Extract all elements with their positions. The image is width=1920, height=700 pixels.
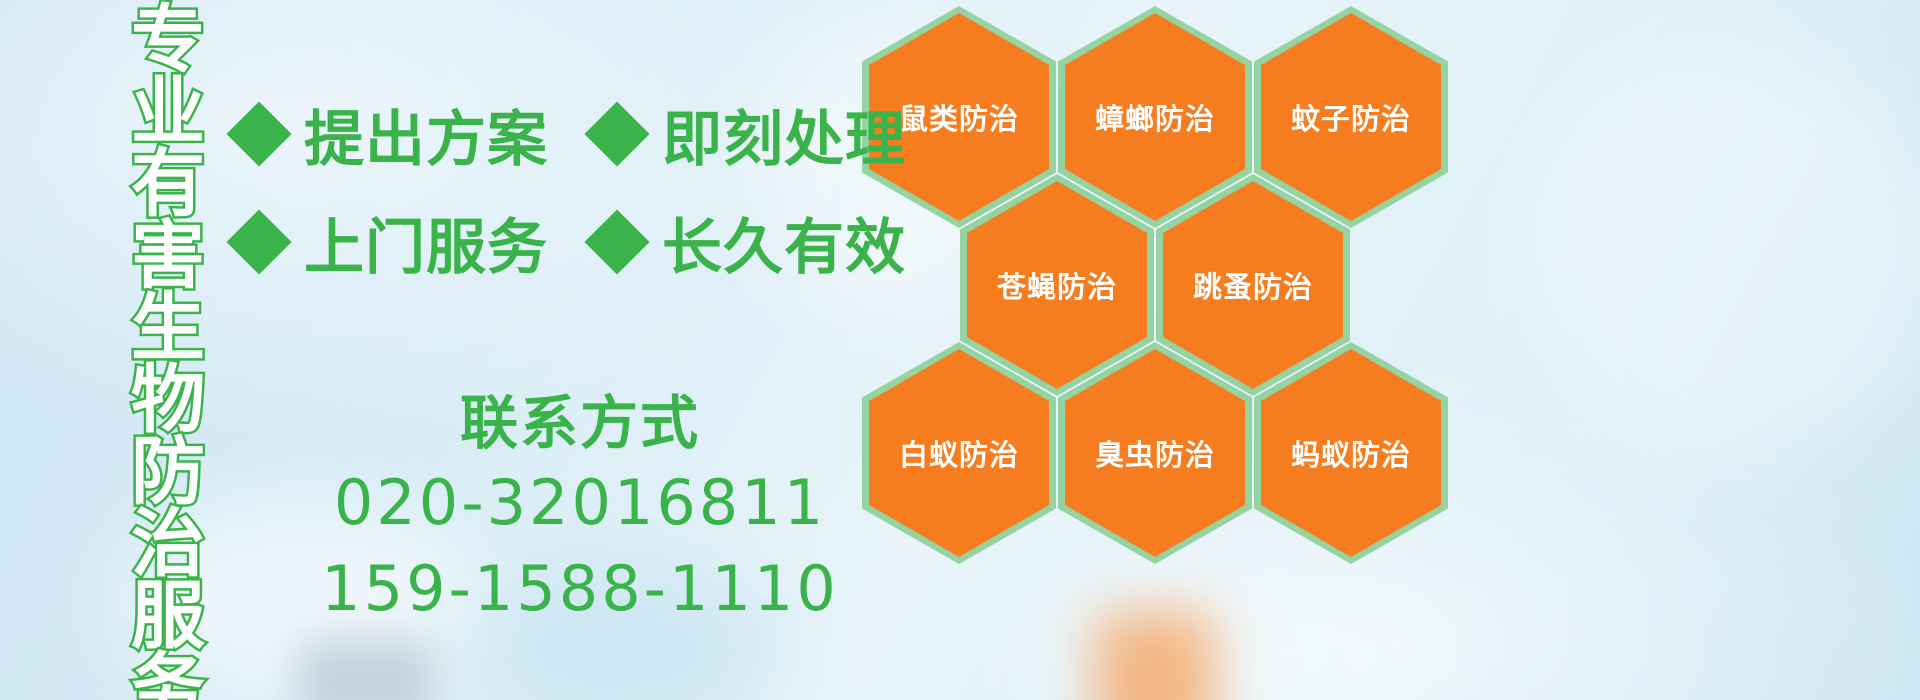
phone-number-landline[interactable]: 020-32016811: [300, 460, 860, 546]
background-accent-grey: [300, 640, 430, 700]
vertical-headline-char: 害: [131, 220, 205, 292]
feature-list: 提出方案 即刻处理 上门服务 长久有效: [236, 80, 906, 296]
feature-label: 上门服务: [304, 199, 548, 286]
contact-block: 联系方式 020-32016811 159-1588-1110: [300, 386, 860, 632]
hex-inner: 蚂蚁防治: [1261, 349, 1441, 557]
hex-inner: 苍蝇防治: [967, 181, 1147, 389]
service-label: 跳蚤防治: [1193, 264, 1313, 306]
background-blob: [1520, 40, 1920, 460]
vertical-headline-char: 业: [131, 76, 205, 148]
feature-label: 提出方案: [304, 91, 548, 178]
hex-inner: 跳蚤防治: [1163, 181, 1343, 389]
promo-banner: 专 业 有 害 生 物 防 治 服 务 提出方案 即刻处理 上门服务 长久有效: [0, 0, 1920, 700]
feature-label: 长久有效: [662, 199, 906, 286]
vertical-headline-char: 有: [131, 148, 205, 220]
hex-inner: 蟑螂防治: [1065, 13, 1245, 221]
service-label: 蚂蚁防治: [1291, 432, 1411, 474]
phone-number-mobile[interactable]: 159-1588-1110: [300, 546, 860, 632]
hex-inner: 蚊子防治: [1261, 13, 1441, 221]
service-label: 白蚁防治: [899, 432, 1019, 474]
vertical-headline-char: 治: [131, 508, 205, 580]
vertical-headline-char: 专: [131, 4, 205, 76]
feature-row: 上门服务 长久有效: [236, 188, 906, 296]
feature-row: 提出方案 即刻处理: [236, 80, 906, 188]
service-label: 蚊子防治: [1291, 96, 1411, 138]
contact-title: 联系方式: [300, 386, 860, 460]
vertical-headline: 专 业 有 害 生 物 防 治 服 务: [104, 4, 232, 700]
service-label: 蟑螂防治: [1095, 96, 1215, 138]
vertical-headline-char: 物: [131, 364, 205, 436]
service-label: 鼠类防治: [899, 96, 1019, 138]
vertical-headline-char: 服: [131, 580, 205, 652]
vertical-headline-char: 务: [131, 652, 205, 700]
feature-label: 即刻处理: [662, 91, 906, 178]
vertical-headline-char: 防: [131, 436, 205, 508]
service-label: 臭虫防治: [1095, 432, 1215, 474]
hex-inner: 白蚁防治: [869, 349, 1049, 557]
service-label: 苍蝇防治: [997, 264, 1117, 306]
vertical-headline-char: 生: [131, 292, 205, 364]
hex-inner: 臭虫防治: [1065, 349, 1245, 557]
service-hex-grid: 鼠类防治 蟑螂防治 蚊子防治 苍蝇防治 跳蚤防治 白蚁防治: [862, 0, 1462, 700]
